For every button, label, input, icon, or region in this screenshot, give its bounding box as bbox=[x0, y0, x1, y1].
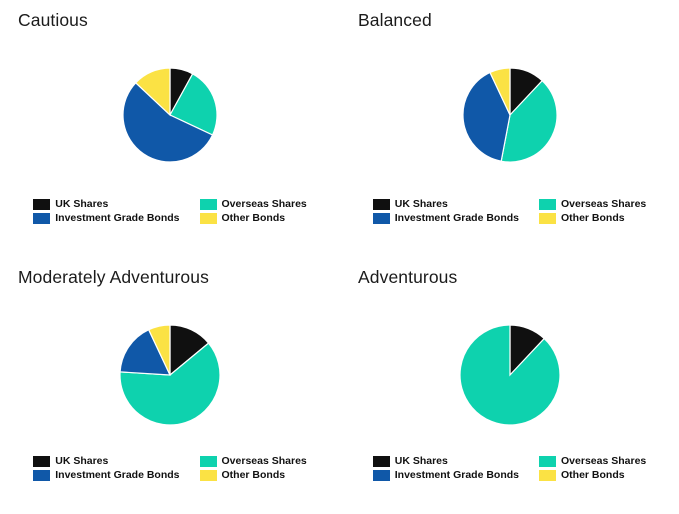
page-title: Cautious bbox=[18, 10, 88, 31]
legend-swatch-other-bonds bbox=[539, 213, 556, 224]
legend-label-investment-grade-bonds: Investment Grade Bonds bbox=[395, 212, 519, 224]
legend-item-other-bonds: Other Bonds bbox=[533, 469, 646, 481]
legend-swatch-investment-grade-bonds bbox=[33, 470, 50, 481]
legend-item-uk-shares: UK Shares bbox=[33, 455, 179, 467]
legend-swatch-investment-grade-bonds bbox=[33, 213, 50, 224]
legend-label-overseas-shares: Overseas Shares bbox=[222, 198, 307, 210]
legend-swatch-overseas-shares bbox=[200, 199, 217, 210]
legend-swatch-investment-grade-bonds bbox=[373, 470, 390, 481]
legend-item-investment-grade-bonds: Investment Grade Bonds bbox=[373, 469, 519, 481]
legend-swatch-investment-grade-bonds bbox=[373, 213, 390, 224]
panel-cautious: Cautious UK Shares Overseas Shares Inves… bbox=[0, 0, 340, 257]
legend-cautious: UK Shares Overseas Shares Investment Gra… bbox=[0, 198, 340, 224]
legend-swatch-other-bonds bbox=[200, 213, 217, 224]
legend-label-uk-shares: UK Shares bbox=[395, 455, 448, 467]
legend-moderately-adventurous: UK Shares Overseas Shares Investment Gra… bbox=[0, 455, 340, 481]
legend-swatch-uk-shares bbox=[33, 199, 50, 210]
page-title: Adventurous bbox=[358, 267, 457, 288]
legend-label-uk-shares: UK Shares bbox=[55, 198, 108, 210]
legend-label-investment-grade-bonds: Investment Grade Bonds bbox=[55, 469, 179, 481]
legend-item-uk-shares: UK Shares bbox=[373, 198, 519, 210]
pie-chart-adventurous bbox=[340, 312, 679, 438]
pie-chart-cautious bbox=[0, 55, 340, 175]
legend-balanced: UK Shares Overseas Shares Investment Gra… bbox=[340, 198, 679, 224]
legend-label-uk-shares: UK Shares bbox=[395, 198, 448, 210]
legend-label-investment-grade-bonds: Investment Grade Bonds bbox=[395, 469, 519, 481]
legend-adventurous: UK Shares Overseas Shares Investment Gra… bbox=[340, 455, 679, 481]
page-title: Balanced bbox=[358, 10, 432, 31]
pie-chart-moderately-adventurous bbox=[0, 312, 340, 438]
legend-swatch-uk-shares bbox=[373, 199, 390, 210]
legend-item-uk-shares: UK Shares bbox=[33, 198, 179, 210]
legend-item-overseas-shares: Overseas Shares bbox=[194, 455, 307, 467]
legend-item-other-bonds: Other Bonds bbox=[194, 469, 307, 481]
legend-swatch-other-bonds bbox=[539, 470, 556, 481]
pie-svg bbox=[450, 55, 570, 175]
pie-slice bbox=[460, 325, 560, 425]
legend-label-overseas-shares: Overseas Shares bbox=[561, 455, 646, 467]
pie-svg bbox=[110, 55, 230, 175]
legend-label-other-bonds: Other Bonds bbox=[561, 469, 625, 481]
pie-svg bbox=[447, 312, 573, 438]
legend-item-investment-grade-bonds: Investment Grade Bonds bbox=[373, 212, 519, 224]
legend-item-uk-shares: UK Shares bbox=[373, 455, 519, 467]
legend-item-overseas-shares: Overseas Shares bbox=[194, 198, 307, 210]
pie-svg bbox=[107, 312, 233, 438]
legend-item-investment-grade-bonds: Investment Grade Bonds bbox=[33, 469, 179, 481]
legend-item-other-bonds: Other Bonds bbox=[533, 212, 646, 224]
legend-swatch-overseas-shares bbox=[200, 456, 217, 467]
legend-swatch-uk-shares bbox=[33, 456, 50, 467]
legend-item-overseas-shares: Overseas Shares bbox=[533, 198, 646, 210]
legend-item-overseas-shares: Overseas Shares bbox=[533, 455, 646, 467]
legend-label-uk-shares: UK Shares bbox=[55, 455, 108, 467]
legend-swatch-overseas-shares bbox=[539, 199, 556, 210]
panel-balanced: Balanced UK Shares Overseas Shares Inves… bbox=[340, 0, 679, 257]
legend-label-other-bonds: Other Bonds bbox=[222, 469, 286, 481]
legend-swatch-other-bonds bbox=[200, 470, 217, 481]
legend-label-other-bonds: Other Bonds bbox=[222, 212, 286, 224]
legend-label-overseas-shares: Overseas Shares bbox=[561, 198, 646, 210]
panel-moderately-adventurous: Moderately Adventurous UK Shares Oversea… bbox=[0, 257, 340, 514]
legend-item-other-bonds: Other Bonds bbox=[194, 212, 307, 224]
legend-item-investment-grade-bonds: Investment Grade Bonds bbox=[33, 212, 179, 224]
legend-label-overseas-shares: Overseas Shares bbox=[222, 455, 307, 467]
legend-swatch-overseas-shares bbox=[539, 456, 556, 467]
legend-label-other-bonds: Other Bonds bbox=[561, 212, 625, 224]
pie-chart-balanced bbox=[340, 55, 679, 175]
legend-swatch-uk-shares bbox=[373, 456, 390, 467]
panel-adventurous: Adventurous UK Shares Overseas Shares In… bbox=[340, 257, 679, 514]
pie-chart-grid: Cautious UK Shares Overseas Shares Inves… bbox=[0, 0, 679, 514]
legend-label-investment-grade-bonds: Investment Grade Bonds bbox=[55, 212, 179, 224]
page-title: Moderately Adventurous bbox=[18, 267, 209, 288]
